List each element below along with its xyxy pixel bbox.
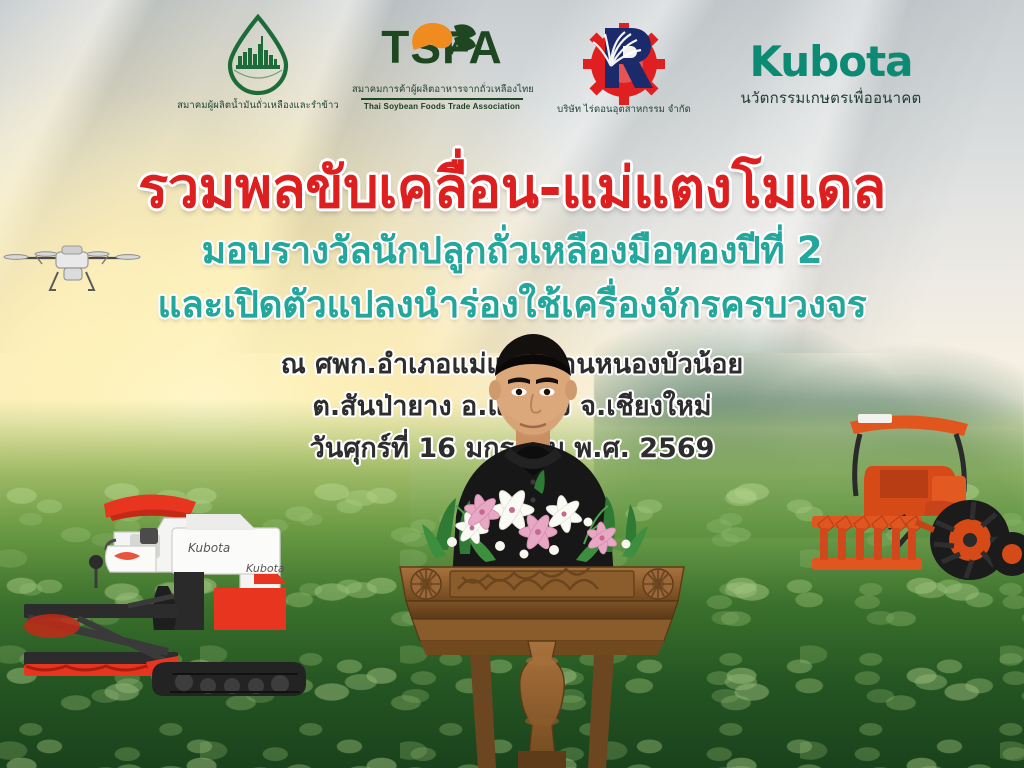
kubota-tractor-with-plough-icon (806, 404, 1024, 600)
gear-letter-r-icon (565, 20, 683, 102)
agricultural-spray-drone-icon (6, 232, 138, 298)
logo-kubota: Kubota นวัตกรรมเกษตรเพื่ออนาคต (716, 40, 946, 110)
kubota-tagline: นวัตกรรมเกษตรเพื่ออนาคต (716, 86, 946, 110)
logo-raidon-industry: บริษัท ไร่ดอนอุตสาหกรรม จำกัด (534, 20, 714, 117)
kubota-combine-harvester-icon: Kubota Kubota (18, 476, 348, 726)
svg-text:Kubota: Kubota (188, 541, 230, 555)
event-subtitle-line-2: และเปิดตัวแปลงนำร่องใช้เครื่องจักรครบวงจ… (0, 280, 1024, 330)
tsfa-caption-en: Thai Soybean Foods Trade Association (352, 102, 532, 111)
logo-tsfa: TSFA สมาคมการค้าผู้ผลิตอาหารจากถั่วเหลือ… (352, 24, 532, 111)
droplet-skyline-icon (220, 14, 296, 94)
svg-text:Kubota: Kubota (246, 562, 285, 575)
logo-caption-th: สมาคมผู้ผลิตน้ำมันถั่วเหลืองและรำข้าว (172, 98, 344, 113)
raidon-caption-th: บริษัท ไร่ดอนอุตสาหกรรม จำกัด (534, 102, 714, 117)
carved-wooden-podium (392, 545, 692, 768)
tsfa-divider (361, 98, 523, 100)
event-photo: สมาคมผู้ผลิตน้ำมันถั่วเหลืองและรำข้าว TS… (0, 0, 1024, 768)
logo-soybean-oil-association: สมาคมผู้ผลิตน้ำมันถั่วเหลืองและรำข้าว (172, 14, 344, 113)
tsfa-caption-th: สมาคมการค้าผู้ผลิตอาหารจากถั่วเหลืองไทย (352, 82, 532, 97)
kubota-wordmark: Kubota (716, 40, 946, 84)
event-title-main: รวมพลขับเคลื่อน-แม่แตงโมเดล (0, 156, 1024, 222)
soybean-sprout-icon (404, 20, 482, 72)
sponsor-logo-row: สมาคมผู้ผลิตน้ำมันถั่วเหลืองและรำข้าว TS… (0, 14, 1024, 136)
event-subtitle-line-1: มอบรางวัลนักปลูกถั่วเหลืองมือทองปีที่ 2 (0, 226, 1024, 276)
